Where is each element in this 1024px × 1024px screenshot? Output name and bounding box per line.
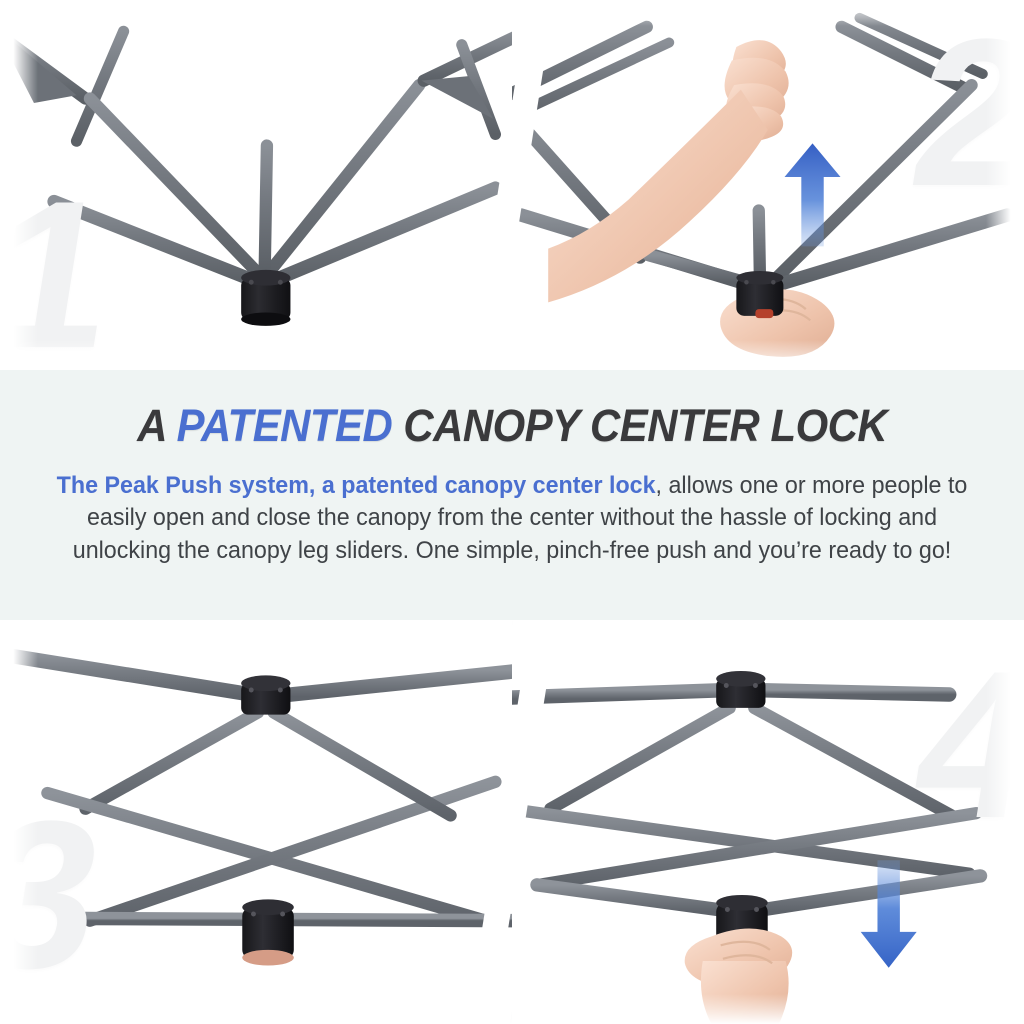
- body-paragraph: The Peak Push system, a patented canopy …: [56, 470, 968, 567]
- panel-step-2[interactable]: 2: [512, 0, 1024, 370]
- headline-lead: A: [137, 400, 176, 451]
- hand-lower-4: [685, 928, 793, 1024]
- arrow-down-icon: [861, 860, 917, 968]
- panel-row-bottom: 3: [0, 620, 1024, 1024]
- center-lock-hub-1: [241, 270, 290, 326]
- page-title: A PATENTED CANOPY CENTER LOCK: [137, 400, 887, 452]
- top-hub-4: [716, 671, 765, 708]
- center-lock-hub-2: [737, 271, 784, 318]
- center-lock-hub-3: [243, 899, 295, 965]
- body-highlight: The Peak Push system, a patented canopy …: [57, 472, 656, 499]
- panel-row-top: 1: [0, 0, 1024, 370]
- infographic-root: 1: [0, 0, 1024, 1024]
- top-hub-3: [241, 675, 290, 714]
- headline-highlight: PATENTED: [176, 400, 392, 451]
- panel-step-1[interactable]: 1: [0, 0, 512, 370]
- panel-step-4[interactable]: 4: [512, 620, 1024, 1024]
- panel-step-3[interactable]: 3: [0, 620, 512, 1024]
- headline-banner: A PATENTED CANOPY CENTER LOCK The Peak P…: [0, 370, 1024, 620]
- headline-tail: CANOPY CENTER LOCK: [392, 400, 887, 451]
